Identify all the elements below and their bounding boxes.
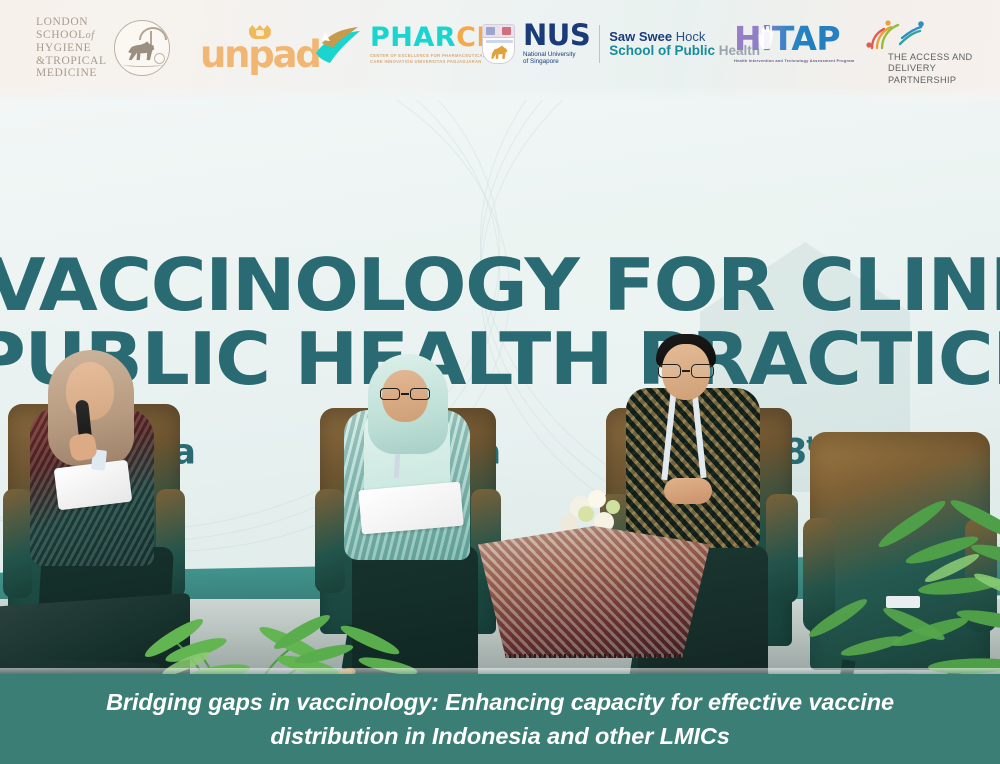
logo-nus: NUS National University of Singapore Saw… (482, 22, 760, 66)
logo-nus-acronym: NUS (523, 22, 590, 49)
lshtm-line-4: &TROPICAL (36, 55, 107, 68)
crown-icon (249, 22, 271, 39)
wing-icon-svg (312, 23, 364, 65)
crest-band (483, 25, 514, 38)
conference-photo (0, 92, 1000, 677)
nus-crest-icon (482, 24, 515, 64)
logo-pharci-text: PHARCI CENTER OF EXCELLENCE FOR PHARMACE… (370, 24, 487, 64)
panelist-center-papers (358, 482, 463, 535)
caption-bar: Bridging gaps in vaccinology: Enhancing … (0, 674, 1000, 764)
lshtm-line-1: LONDON (36, 16, 107, 29)
caption-line-2: distribution in Indonesia and other LMIC… (270, 720, 729, 752)
logo-nus-text: NUS National University of Singapore Saw… (523, 22, 760, 66)
logo-pharci-subtitle: CENTER OF EXCELLENCE FOR PHARMACEUTICAL … (370, 53, 487, 64)
lshtm-line-2: SCHOOLof (36, 29, 107, 43)
logo-divider (599, 25, 600, 63)
lshtm-line-5: MEDICINE (36, 67, 107, 80)
logo-unpad: unpad (200, 22, 320, 73)
logo-adp-text: THE ACCESS AND DELIVERY PARTNERSHIP (888, 52, 1000, 86)
lshtm-seal-icon (114, 20, 170, 76)
logo-nus-subtitle: National University of Singapore (523, 51, 590, 66)
lion-icon (491, 45, 508, 59)
conference-poster: LONDON SCHOOLof HYGIENE &TROPICAL MEDICI… (0, 0, 1000, 764)
logo-hitap-subtitle: Health Intervention and Technology Asses… (734, 58, 854, 63)
signal-arcs-icon (864, 20, 926, 50)
logo-unpad-wordmark: unpad (200, 37, 320, 73)
partner-logo-bar: LONDON SCHOOLof HYGIENE &TROPICAL MEDICI… (0, 0, 1000, 100)
lshtm-line-3: HYGIENE (36, 42, 107, 55)
caption-line-1: Bridging gaps in vaccinology: Enhancing … (106, 686, 894, 718)
glasses-icon (658, 364, 714, 378)
batik-tablecloth (478, 526, 710, 658)
logo-lshtm: LONDON SCHOOLof HYGIENE &TROPICAL MEDICI… (36, 16, 170, 80)
stage-table (478, 490, 710, 666)
glasses-icon (380, 388, 430, 400)
panelist-left-face (66, 362, 114, 420)
logo-hitap: HiTAP Health Intervention and Technology… (734, 22, 854, 63)
logo-adp: THE ACCESS AND DELIVERY PARTNERSHIP (862, 20, 1000, 86)
crest-rule (486, 40, 513, 43)
wing-icon (312, 23, 364, 65)
logo-lshtm-text: LONDON SCHOOLof HYGIENE &TROPICAL MEDICI… (36, 16, 107, 80)
logo-hitap-wordmark: HiTAP (734, 22, 840, 55)
roundel-icon (154, 53, 165, 64)
logo-pharci: PHARCI CENTER OF EXCELLENCE FOR PHARMACE… (312, 23, 487, 65)
logo-pharci-wordmark: PHARCI (370, 24, 487, 51)
